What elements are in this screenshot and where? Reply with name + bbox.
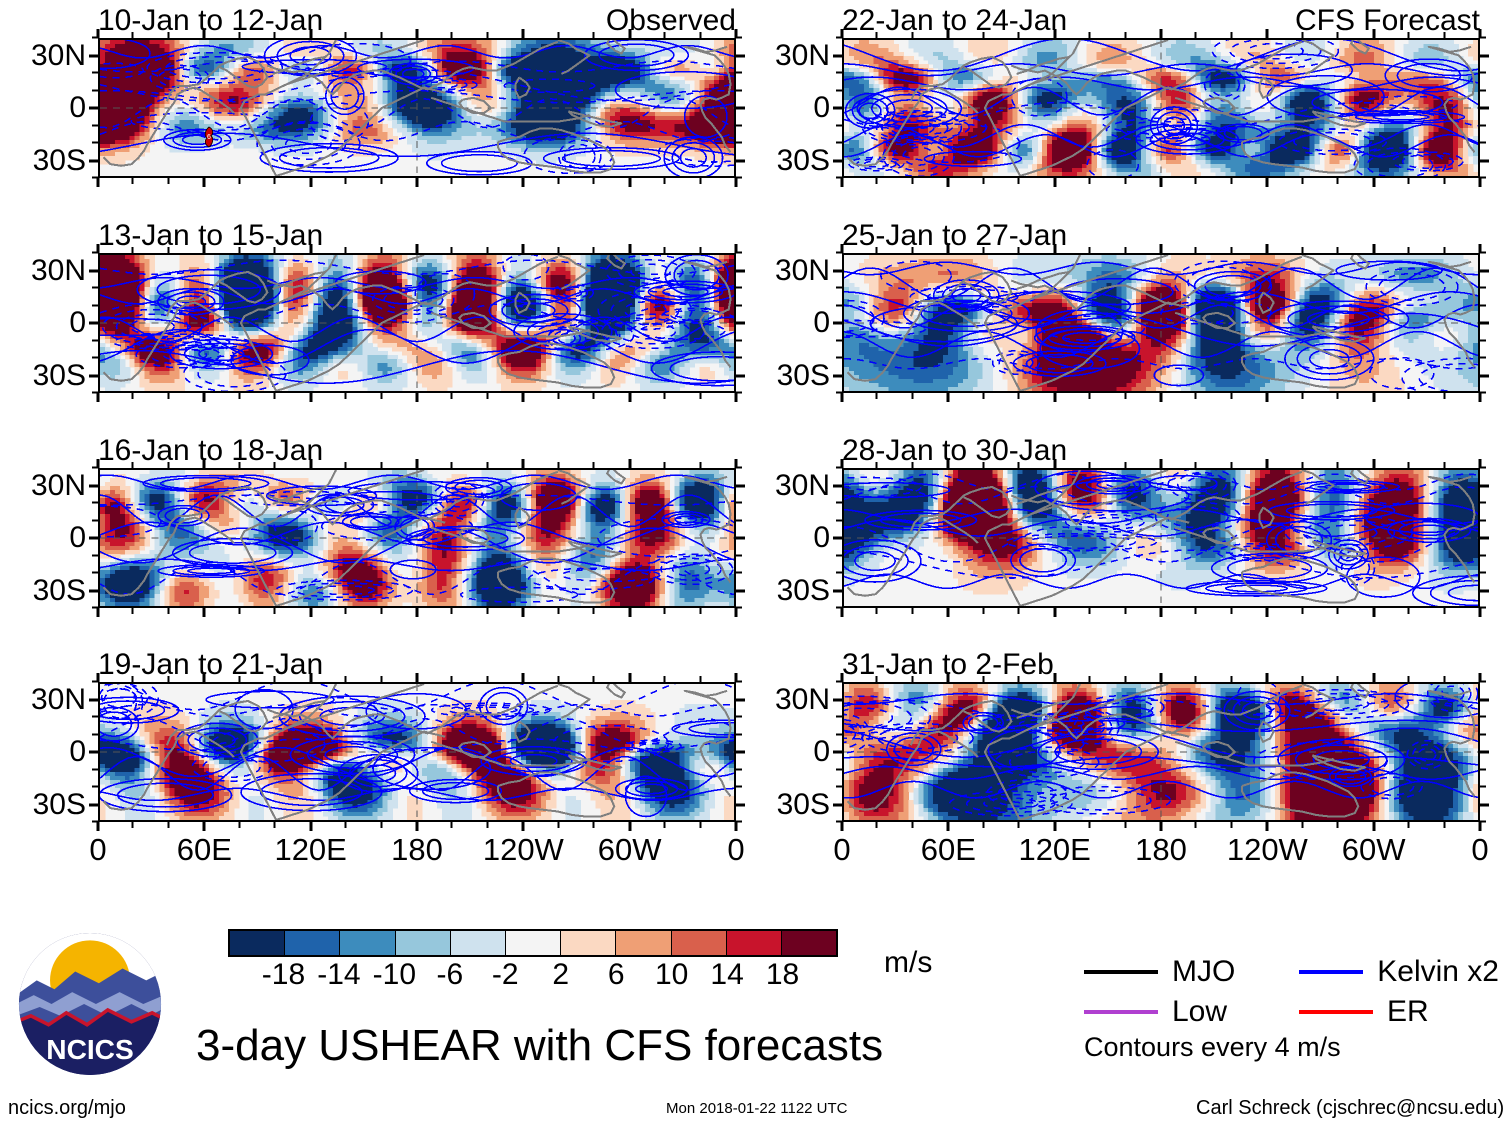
x-tick [274,462,276,468]
column-header-left: Observed [606,5,736,37]
x-tick [380,676,382,682]
x-tick [1408,178,1410,184]
x-tick [1018,462,1020,468]
x-tick [1089,822,1091,828]
panel-obs-2: 13-Jan to 15-Jan 30N030S [98,253,736,393]
panel-obs-4: 19-Jan to 21-Jan 30N030S [98,682,736,822]
y-tick [92,89,98,91]
x-tick [451,32,453,38]
x-tick [451,822,453,828]
y-tick [736,786,742,788]
x-tick [664,247,666,253]
y-tick [736,572,742,574]
map-frame-fcst-4 [842,682,1480,822]
x-tick [97,244,100,253]
x-tick [486,393,488,399]
x-tick [982,608,984,614]
x-tick [1018,822,1020,828]
x-tick [416,608,419,617]
legend-item-mjo[interactable]: MJO [1084,956,1299,988]
x-tick [522,608,525,617]
y-tick [736,554,742,556]
x-tick [1195,608,1197,614]
x-tick [203,608,206,617]
footer-author[interactable]: Carl Schreck (cjschrec@ncsu.edu) [1196,1097,1504,1120]
x-tick [238,247,240,253]
x-tick [1089,462,1091,468]
x-tick [699,32,701,38]
y-tick [836,786,842,788]
x-tick [1160,29,1163,38]
legend-line-swatch [1299,1010,1373,1014]
x-tick [593,393,595,399]
y-tick [92,124,98,126]
y-tick-label: 0 [740,523,830,553]
y-tick [836,72,842,74]
x-tick [1160,822,1163,831]
x-tick [982,393,984,399]
legend-label: ER [1387,996,1429,1028]
x-tick [132,676,134,682]
colorbar-tick-label: -2 [492,959,519,991]
x-tick [416,244,419,253]
x-tick [238,32,240,38]
x-tick [841,244,844,253]
x-tick [911,178,913,184]
x-tick [664,608,666,614]
x-tick [97,29,100,38]
x-tick [876,462,878,468]
panel-obs-3: 16-Jan to 18-Jan 30N030S [98,468,736,608]
x-tick [345,822,347,828]
y-tick-label: 30N [0,256,86,286]
x-tick [911,822,913,828]
x-tick [1266,459,1269,468]
x-tick [238,608,240,614]
x-tick [1230,822,1232,828]
x-tick [1124,676,1126,682]
y-tick [1480,107,1489,110]
y-tick [92,357,98,359]
x-tick [1053,822,1056,831]
x-tick [876,676,878,682]
y-tick-label: 30N [740,41,830,71]
x-tick [911,608,913,614]
x-tick [1408,608,1410,614]
x-tick [1195,676,1197,682]
legend-item-er[interactable]: ER [1299,996,1499,1028]
x-tick [132,822,134,828]
x-tick [841,393,844,402]
x-tick [1266,393,1269,402]
y-tick [92,733,98,735]
x-tick [1053,244,1056,253]
x-tick [841,608,844,617]
x-tick-label: 180 [1135,834,1187,866]
x-tick [1124,822,1126,828]
x-tick [1230,32,1232,38]
y-tick [92,554,98,556]
x-tick [416,459,419,468]
colorbar-cell-5 [506,931,561,955]
y-tick [89,159,98,162]
x-tick [1018,608,1020,614]
figure-root: 10-Jan to 12-JanObserved 6 30N030S13-Jan… [0,0,1510,1121]
y-tick [1480,357,1486,359]
map-frame-fcst-1 [842,38,1480,178]
x-tick [309,459,312,468]
colorbar-tick-label: 2 [552,959,569,991]
y-tick [1480,698,1489,701]
y-tick-label: 30S [740,576,830,606]
x-tick [167,247,169,253]
y-tick [92,519,98,521]
x-tick [841,29,844,38]
colorbar-cell-9 [727,931,782,955]
x-tick [203,393,206,402]
x-tick [167,393,169,399]
x-tick [628,459,631,468]
x-tick-label: 120E [274,834,346,866]
y-tick [836,287,842,289]
y-tick [92,339,98,341]
x-tick [1266,244,1269,253]
x-tick [1230,247,1232,253]
y-tick [92,502,98,504]
x-tick [345,178,347,184]
x-tick-label: 120W [1227,834,1308,866]
y-tick [736,502,742,504]
x-tick [238,676,240,682]
x-tick [628,29,631,38]
x-tick [1053,29,1056,38]
y-tick [736,357,742,359]
panel-fcst-2: 25-Jan to 27-Jan 30N030S [842,253,1480,393]
x-tick [1266,178,1269,187]
x-tick [1089,32,1091,38]
x-tick [699,247,701,253]
y-tick [1480,716,1486,718]
x-tick [664,393,666,399]
x-tick [416,673,419,682]
y-tick [736,287,742,289]
x-tick [593,822,595,828]
x-tick [841,459,844,468]
y-tick [836,142,842,144]
map-field [100,470,734,606]
footer-stamp: Mon 2018-01-22 1122 UTC [666,1100,848,1117]
x-tick [1018,247,1020,253]
x-tick [1372,29,1375,38]
x-tick [1266,29,1269,38]
x-tick [735,459,738,468]
x-tick-label: 0 [727,834,744,866]
y-tick [1480,287,1486,289]
x-tick [167,462,169,468]
y-tick [1480,374,1489,377]
x-tick [132,393,134,399]
x-tick [1053,178,1056,187]
x-tick [1443,247,1445,253]
y-tick [89,484,98,487]
x-tick [1443,32,1445,38]
x-tick-label: 120E [1018,834,1090,866]
colorbar-cell-4 [451,931,506,955]
map-frame-obs-4 [98,682,736,822]
x-tick [947,822,950,831]
x-tick [167,676,169,682]
y-tick [89,751,98,754]
ncics-logo[interactable]: NCICS [16,930,164,1078]
x-tick [735,822,738,831]
x-tick [1195,32,1197,38]
colorbar-tick-label: 14 [710,959,743,991]
x-tick [132,247,134,253]
y-tick [836,519,842,521]
y-tick-label: 30N [740,685,830,715]
y-tick [1480,89,1486,91]
x-tick [486,178,488,184]
y-tick-label: 30S [740,361,830,391]
x-tick [1230,462,1232,468]
y-tick-label: 30N [0,471,86,501]
x-tick [1124,393,1126,399]
x-tick [1408,676,1410,682]
y-tick [1480,54,1489,57]
footer-site[interactable]: ncics.org/mjo [8,1097,126,1120]
y-tick [1480,322,1489,325]
x-tick [416,178,419,187]
x-tick [203,244,206,253]
x-tick [1301,608,1303,614]
y-tick [736,733,742,735]
y-tick [1480,304,1486,306]
y-tick [92,768,98,770]
x-tick [1479,822,1482,831]
y-tick-label: 30N [0,685,86,715]
colorbar-cell-1 [285,931,340,955]
x-tick [238,393,240,399]
x-tick [593,178,595,184]
x-tick [274,178,276,184]
x-tick [982,247,984,253]
y-tick [89,803,98,806]
x-tick [982,822,984,828]
x-tick-label: 0 [89,834,106,866]
x-tick [97,178,100,187]
x-tick [876,822,878,828]
x-tick [380,393,382,399]
x-tick [557,393,559,399]
x-tick [628,244,631,253]
svg-text:6: 6 [207,134,211,141]
x-tick [1089,676,1091,682]
x-tick [97,673,100,682]
x-tick [1479,673,1482,682]
x-tick [1408,247,1410,253]
x-tick [203,822,206,831]
map-frame-fcst-3 [842,468,1480,608]
y-tick [833,751,842,754]
colorbar-tick-label: 6 [608,959,625,991]
x-tick [97,822,100,831]
contour-interval-note: Contours every 4 m/s [1084,1032,1341,1063]
x-tick [1160,178,1163,187]
x-tick [486,676,488,682]
legend-line-swatch [1084,1010,1158,1014]
x-tick [309,393,312,402]
x-tick [947,608,950,617]
y-tick [1480,142,1486,144]
x-tick [522,244,525,253]
x-tick [1195,462,1197,468]
y-tick [1480,124,1486,126]
y-tick [736,339,742,341]
x-tick [1408,393,1410,399]
x-tick-label: 180 [391,834,443,866]
x-tick [947,178,950,187]
legend-label: Kelvin x2 [1377,956,1499,988]
colorbar-tick-label: -6 [436,959,463,991]
x-tick [841,822,844,831]
y-tick-label: 30N [0,41,86,71]
y-tick [736,304,742,306]
x-tick [1479,29,1482,38]
y-tick [89,54,98,57]
x-tick [1301,32,1303,38]
x-tick [167,822,169,828]
x-tick [1124,608,1126,614]
x-tick [699,178,701,184]
y-tick [833,107,842,110]
x-tick [1160,393,1163,402]
y-tick [836,304,842,306]
map-field [844,40,1478,176]
x-tick [132,178,134,184]
x-tick [1124,178,1126,184]
x-tick [735,393,738,402]
x-tick [1479,459,1482,468]
x-tick [522,178,525,187]
x-tick [238,178,240,184]
x-tick [841,673,844,682]
y-tick-label: 0 [740,93,830,123]
x-tick [238,822,240,828]
map-field [844,470,1478,606]
x-tick [486,608,488,614]
x-tick [1018,178,1020,184]
x-tick [1372,459,1375,468]
x-tick [1089,178,1091,184]
x-tick [1195,822,1197,828]
colorbar-units-label: m/s [884,946,932,980]
x-tick [1408,462,1410,468]
y-tick [1480,572,1486,574]
y-tick [833,589,842,592]
y-tick [92,304,98,306]
y-tick [89,374,98,377]
x-tick-label: 0 [1471,834,1488,866]
map-frame-obs-3 [98,468,736,608]
x-tick [274,676,276,682]
x-tick [876,393,878,399]
x-tick [911,676,913,682]
x-tick [557,178,559,184]
x-tick [911,247,913,253]
colorbar-cell-8 [672,931,727,955]
x-tick [1301,822,1303,828]
x-tick [876,178,878,184]
x-tick [132,32,134,38]
x-tick [664,676,666,682]
x-tick [309,673,312,682]
x-tick [1301,247,1303,253]
x-tick [593,676,595,682]
x-tick [947,244,950,253]
x-tick [1089,247,1091,253]
colorbar-tick-label: -10 [373,959,416,991]
x-tick [97,459,100,468]
x-tick [1089,608,1091,614]
x-tick [557,608,559,614]
x-tick [274,393,276,399]
y-tick [836,357,842,359]
y-tick [736,72,742,74]
x-tick [1266,608,1269,617]
legend-item-low[interactable]: Low [1084,996,1299,1028]
x-tick [380,608,382,614]
x-tick [735,244,738,253]
x-tick [664,32,666,38]
x-tick [664,822,666,828]
y-tick [833,159,842,162]
x-tick [628,178,631,187]
y-tick [736,716,742,718]
x-tick [982,676,984,682]
legend-row-1: MJO Kelvin x2 [1084,952,1504,992]
y-tick [833,698,842,701]
main-title: 3-day USHEAR with CFS forecasts [196,1022,883,1070]
column-header-right: CFS Forecast [1295,5,1480,37]
cyclone-marker[interactable]: 6 [201,126,217,148]
x-tick [557,32,559,38]
y-tick [736,519,742,521]
x-tick [1337,822,1339,828]
x-tick [735,29,738,38]
x-tick [1479,178,1482,187]
y-tick [89,537,98,540]
y-tick [836,124,842,126]
panel-fcst-1: 22-Jan to 24-JanCFS Forecast 30N030S [842,38,1480,178]
y-tick-label: 30S [0,146,86,176]
x-tick [1018,393,1020,399]
x-tick [1266,673,1269,682]
y-tick [92,716,98,718]
y-tick-label: 0 [0,523,86,553]
x-tick [1053,673,1056,682]
y-tick-label: 30S [740,790,830,820]
x-tick [593,462,595,468]
legend-item-kelvin-x2[interactable]: Kelvin x2 [1299,956,1499,988]
colorbar-tick-label: -14 [317,959,360,991]
x-tick [380,178,382,184]
y-tick [833,537,842,540]
x-tick [1230,393,1232,399]
x-tick [911,32,913,38]
y-tick [833,269,842,272]
x-tick [557,676,559,682]
x-tick [876,247,878,253]
